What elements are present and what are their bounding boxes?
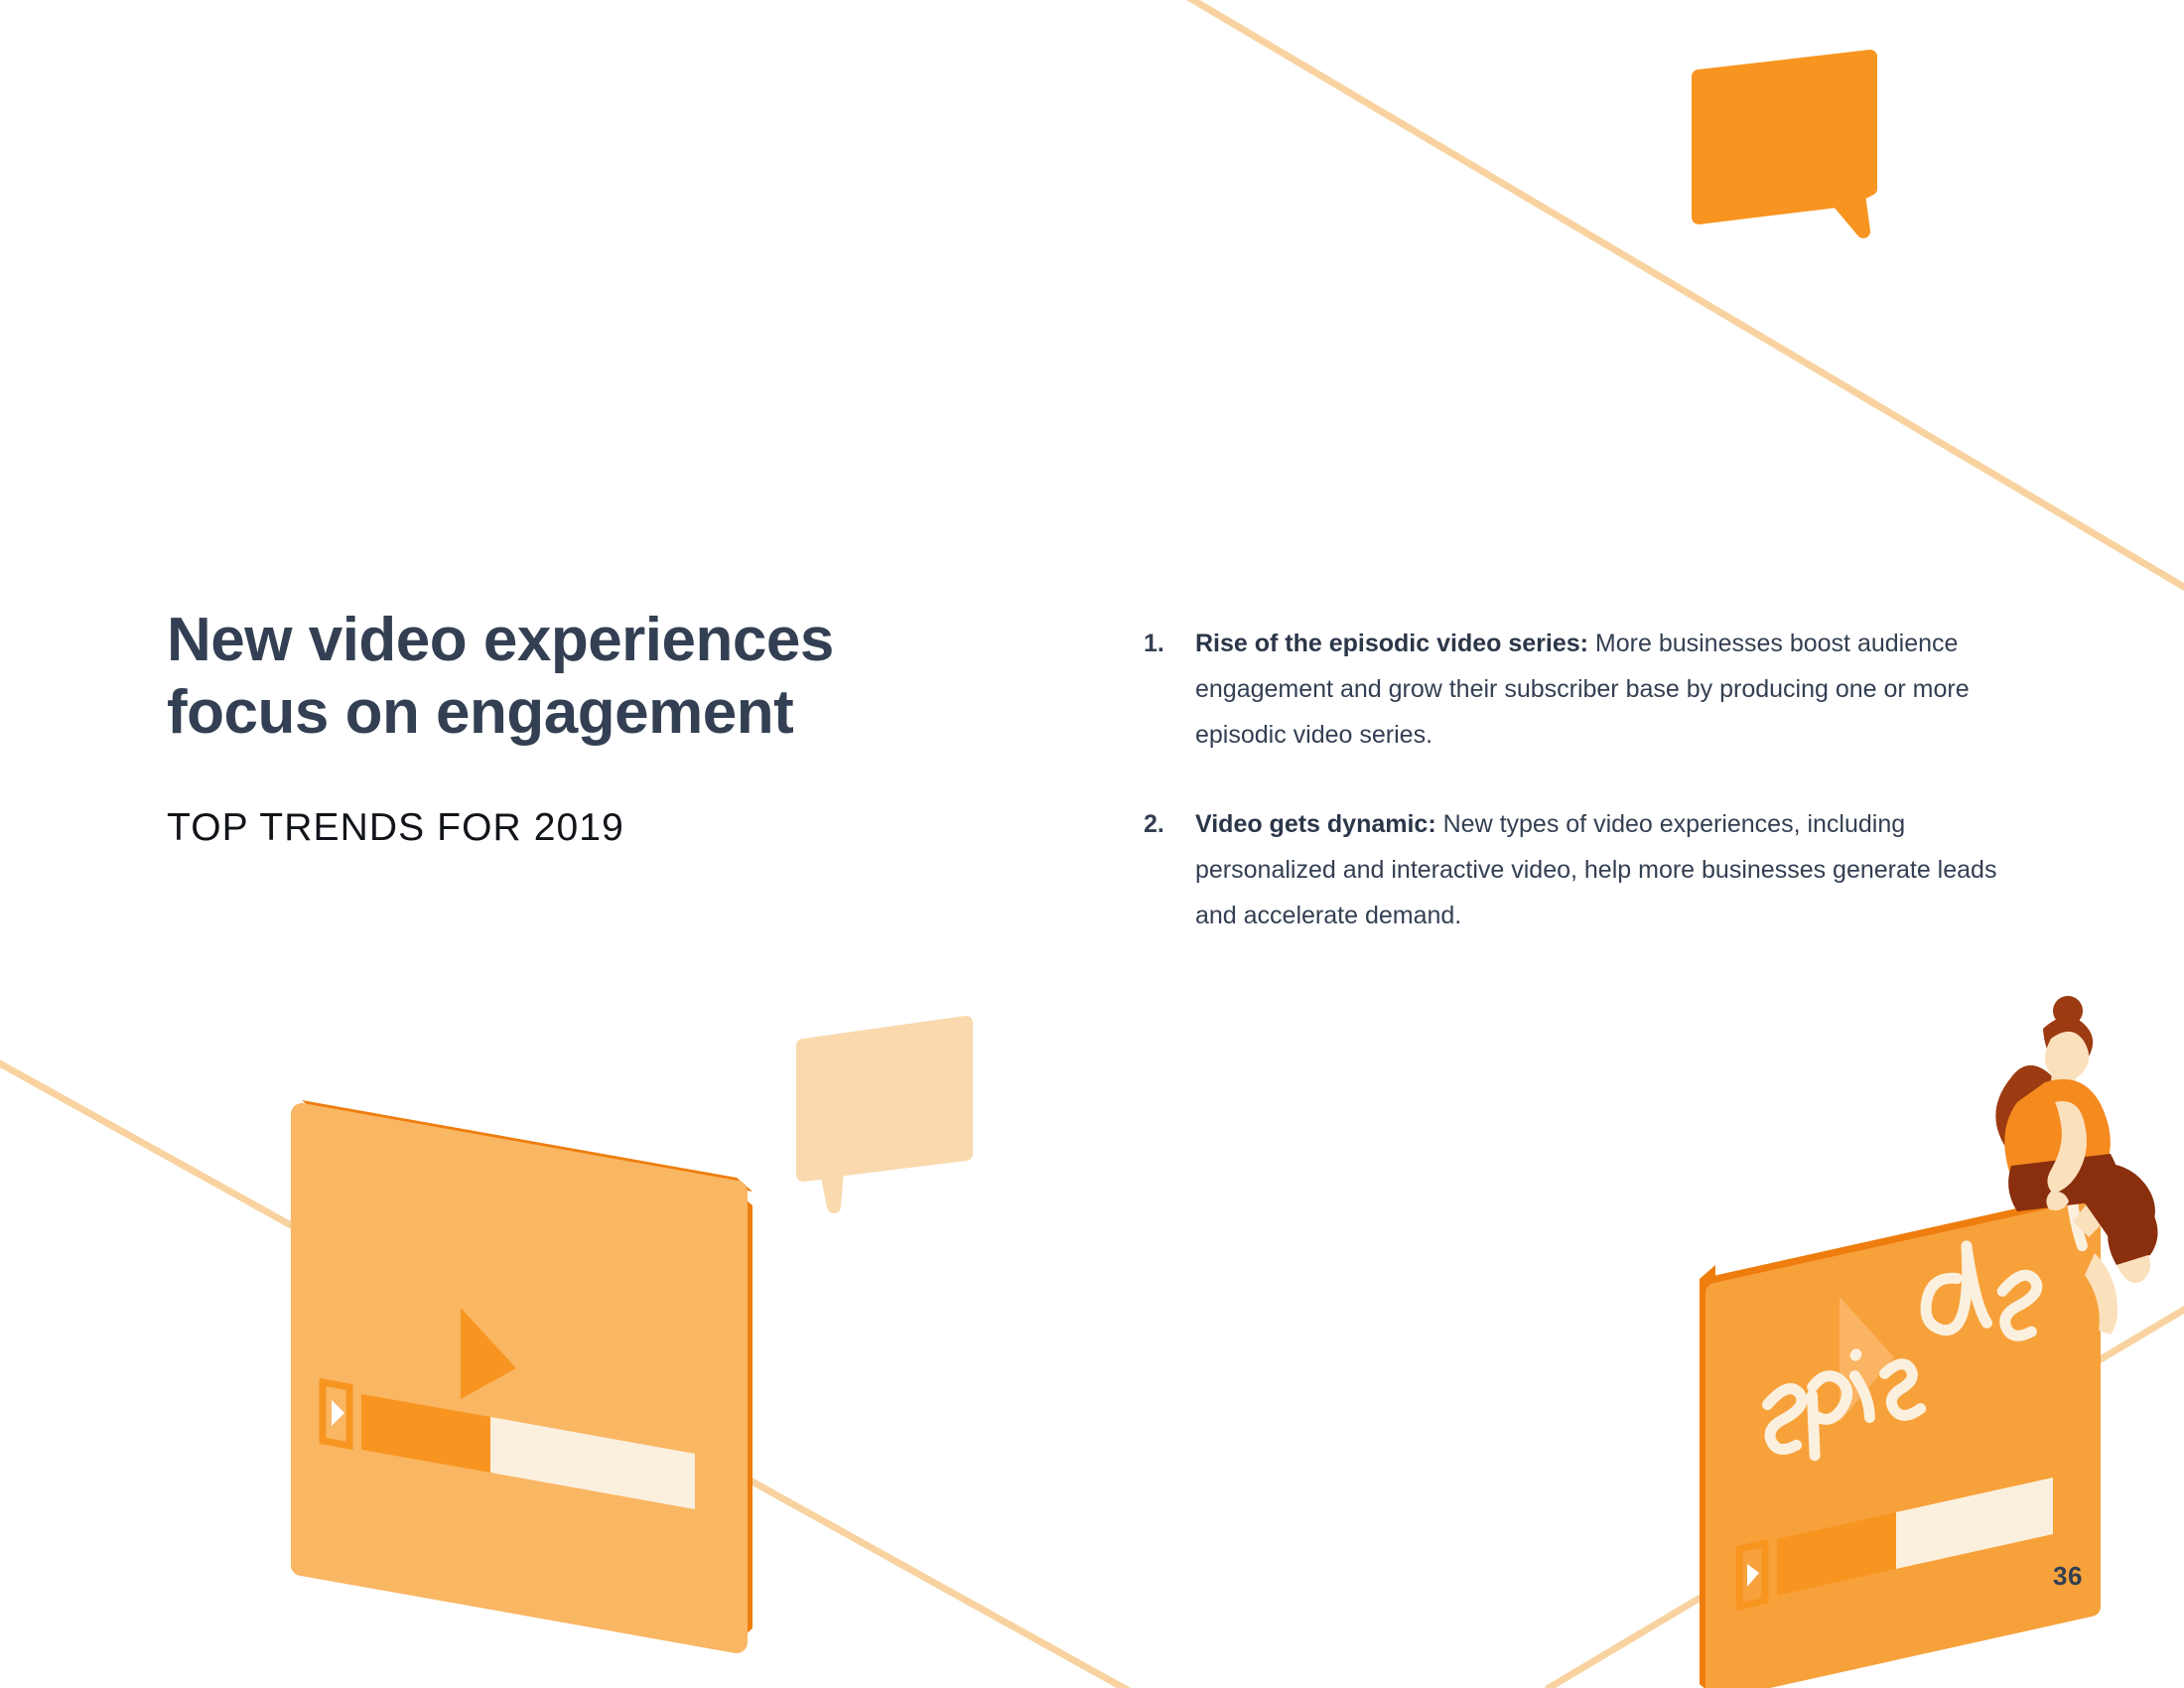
diagonal-line-bottom bbox=[0, 1053, 1231, 1688]
headline-block: New video experiences focus on engagemen… bbox=[167, 604, 1001, 850]
page-subtitle: TOP TRENDS FOR 2019 bbox=[167, 806, 1001, 850]
list-item-lead: Rise of the episodic video series: bbox=[1195, 630, 1588, 657]
diagonal-line-bottom-right bbox=[1549, 1301, 2184, 1688]
list-item-text: Rise of the episodic video series: More … bbox=[1195, 621, 1997, 758]
list-item: 1. Rise of the episodic video series: Mo… bbox=[1144, 621, 1997, 758]
list-item-number: 1. bbox=[1144, 621, 1195, 666]
slide-page: New video experiences focus on engagemen… bbox=[0, 0, 2184, 1688]
right-episode-card bbox=[1700, 1171, 2102, 1688]
diagonal-line-top bbox=[1176, 0, 2184, 596]
page-number: 36 bbox=[2053, 1561, 2083, 1592]
episode-label-part1 bbox=[1757, 1343, 1926, 1464]
list-item-number: 2. bbox=[1144, 801, 1195, 847]
list-item-lead: Video gets dynamic: bbox=[1195, 810, 1436, 838]
trends-list: 1. Rise of the episodic video series: Mo… bbox=[1144, 621, 1997, 938]
seated-woman-figure bbox=[1995, 996, 2157, 1335]
list-item: 2. Video gets dynamic: New types of vide… bbox=[1144, 801, 1997, 938]
list-item-text: Video gets dynamic: New types of video e… bbox=[1195, 801, 1997, 938]
speech-bubble-top-icon bbox=[1699, 57, 1870, 231]
speech-bubble-bottom-icon bbox=[803, 1023, 966, 1206]
episode-label-part2 bbox=[1903, 1171, 2102, 1353]
left-video-card bbox=[302, 1100, 752, 1642]
page-title: New video experiences focus on engagemen… bbox=[167, 604, 1001, 749]
hair-bun bbox=[2053, 996, 2083, 1026]
